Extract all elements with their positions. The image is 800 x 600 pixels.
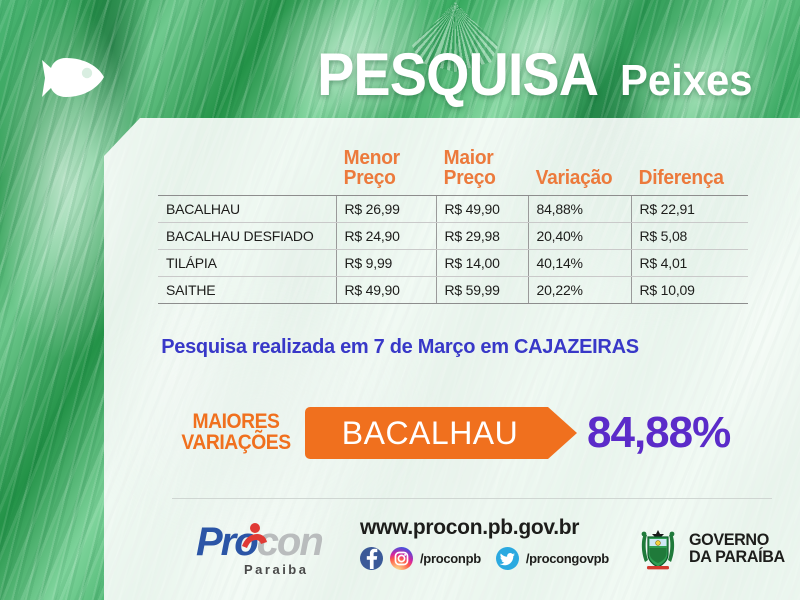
table-head: Menor Preço Maior Preço Variação Diferen… xyxy=(158,148,748,195)
col-header-maior-line2: Preço xyxy=(444,167,496,189)
cell-diferenca: R$ 4,01 xyxy=(631,249,748,276)
social-row: /proconpb /procongovpb xyxy=(360,547,610,570)
title-main: PESQUISA xyxy=(318,46,599,103)
col-header-menor-line2: Preço xyxy=(344,167,396,189)
header: PESQUISA Peixes xyxy=(0,0,800,122)
twitter-icon[interactable] xyxy=(496,547,519,570)
instagram-icon[interactable] xyxy=(390,547,413,570)
title-sub: Peixes xyxy=(620,60,752,102)
cell-variacao: 20,40% xyxy=(528,222,631,249)
cell-item: SAITHE xyxy=(158,277,336,304)
table-row: BACALHAU R$ 26,99 R$ 49,90 84,88% R$ 22,… xyxy=(158,195,748,222)
price-table: Menor Preço Maior Preço Variação Diferen… xyxy=(158,148,748,304)
poster-title: PESQUISA Peixes xyxy=(296,46,752,103)
highlight-label-line1: MAIORES xyxy=(193,410,280,433)
highlight-label-line2: VARIAÇÕES xyxy=(181,431,290,454)
highlight-label: MAIORES VARIAÇÕES xyxy=(180,412,292,453)
cell-diferenca: R$ 22,91 xyxy=(631,195,748,222)
col-header-diferenca: Diferença xyxy=(631,148,743,195)
cell-maior: R$ 59,99 xyxy=(436,277,528,304)
survey-note: Pesquisa realizada em 7 de Março em CAJA… xyxy=(0,336,800,359)
highlight-product: BACALHAU xyxy=(342,417,519,449)
procon-logo: Procon Paraiba xyxy=(196,520,336,582)
col-header-item xyxy=(158,148,329,195)
government-name: GOVERNO DA PARAÍBA xyxy=(689,531,785,566)
table-header-row: Menor Preço Maior Preço Variação Diferen… xyxy=(158,148,748,195)
col-header-maior-line1: Maior xyxy=(444,147,494,169)
table-row: SAITHE R$ 49,90 R$ 59,99 20,22% R$ 10,09 xyxy=(158,277,748,304)
cell-menor: R$ 9,99 xyxy=(336,249,436,276)
cell-menor: R$ 49,90 xyxy=(336,277,436,304)
website-url[interactable]: www.procon.pb.gov.br xyxy=(360,516,610,540)
fish-icon xyxy=(40,55,108,101)
cell-maior: R$ 29,98 xyxy=(436,222,528,249)
cell-variacao: 84,88% xyxy=(528,195,631,222)
cell-item: TILÁPIA xyxy=(158,249,336,276)
col-header-menor-preco: Menor Preço xyxy=(336,148,432,195)
poster-root: PESQUISA Peixes Menor Preço Maior Preço xyxy=(0,0,800,600)
cell-diferenca: R$ 10,09 xyxy=(631,277,748,304)
cell-item: BACALHAU xyxy=(158,195,336,222)
col-header-menor-line1: Menor xyxy=(344,147,400,169)
highlight-banner: BACALHAU xyxy=(305,407,577,459)
table-row: TILÁPIA R$ 9,99 R$ 14,00 40,14% R$ 4,01 xyxy=(158,249,748,276)
col-header-variacao: Variação xyxy=(528,148,627,195)
price-table-zone: Menor Preço Maior Preço Variação Diferen… xyxy=(158,148,748,304)
cell-menor: R$ 24,90 xyxy=(336,222,436,249)
cell-variacao: 20,22% xyxy=(528,277,631,304)
footer: Procon Paraiba www.procon.pb.gov.br xyxy=(0,508,800,600)
cell-maior: R$ 49,90 xyxy=(436,195,528,222)
government-line1: GOVERNO xyxy=(689,531,785,548)
facebook-handle[interactable]: /proconpb xyxy=(420,551,481,566)
col-header-maior-preco: Maior Preço xyxy=(436,148,524,195)
government-block: GOVERNO DA PARAÍBA xyxy=(636,522,790,574)
highlight-section: MAIORES VARIAÇÕES BACALHAU 84,88% xyxy=(175,404,775,462)
highlight-value: 84,88% xyxy=(587,411,730,455)
procon-subtitle: Paraiba xyxy=(244,562,308,577)
twitter-handle[interactable]: /procongovpb xyxy=(526,551,609,566)
table-row: BACALHAU DESFIADO R$ 24,90 R$ 29,98 20,4… xyxy=(158,222,748,249)
government-line2: DA PARAÍBA xyxy=(689,548,785,565)
cell-menor: R$ 26,99 xyxy=(336,195,436,222)
cell-item: BACALHAU DESFIADO xyxy=(158,222,336,249)
web-block: www.procon.pb.gov.br /proconpb xyxy=(360,516,610,570)
table-body: BACALHAU R$ 26,99 R$ 49,90 84,88% R$ 22,… xyxy=(158,195,748,303)
paraiba-coat-of-arms-icon xyxy=(636,522,680,574)
procon-person-icon xyxy=(239,522,269,552)
facebook-icon[interactable] xyxy=(360,547,383,570)
footer-divider xyxy=(172,498,772,499)
cell-variacao: 40,14% xyxy=(528,249,631,276)
cell-maior: R$ 14,00 xyxy=(436,249,528,276)
cell-diferenca: R$ 5,08 xyxy=(631,222,748,249)
